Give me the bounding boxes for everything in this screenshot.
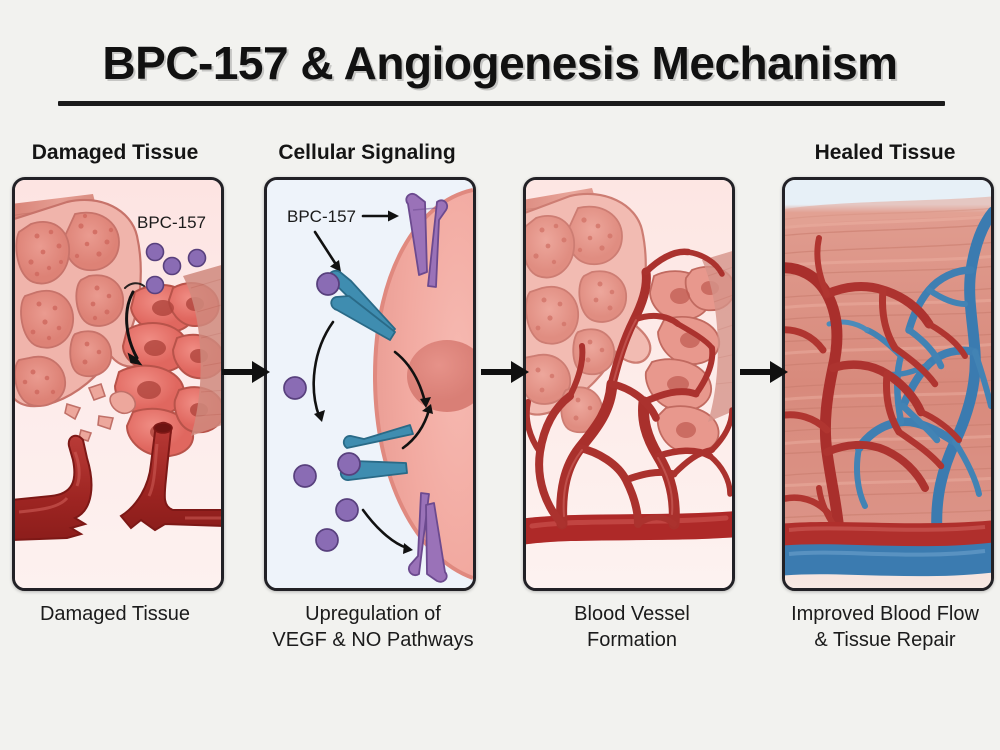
caption-blood-vessel-formation: Blood Vessel Formation <box>512 602 752 653</box>
panel-header-damaged-tissue: Damaged Tissue <box>12 141 218 165</box>
caption-cellular-signaling: Upregulation of VEGF & NO Pathways <box>253 602 493 653</box>
caption-damaged-tissue: Damaged Tissue <box>0 602 235 628</box>
title-underline <box>58 101 945 106</box>
flow-arrow-3-to-4 <box>740 358 788 386</box>
bound-ligand <box>338 453 360 475</box>
cellular-signaling-illustration: BPC-157 <box>267 180 473 588</box>
healed-tissue-illustration <box>785 180 991 588</box>
main-vein <box>785 542 991 576</box>
panel-header-healed-tissue: Healed Tissue <box>782 141 988 165</box>
damaged-tissue-illustration: BPC-157 <box>15 180 221 588</box>
caption-line-1: Blood Vessel <box>574 603 690 625</box>
panel-cellular-signaling[interactable]: BPC-157 <box>264 177 476 591</box>
panel-blood-vessel-formation[interactable] <box>523 177 735 591</box>
caption-line-1: Upregulation of <box>305 603 441 625</box>
caption-line-2: & Tissue Repair <box>814 629 955 651</box>
caption-line-2: Formation <box>587 629 677 651</box>
flow-arrow-1-to-2 <box>222 358 270 386</box>
bpc157-label: BPC-157 <box>137 213 206 232</box>
caption-line-1: Improved Blood Flow <box>791 603 979 625</box>
main-vessels <box>785 520 991 576</box>
caption-healed-tissue: Improved Blood Flow & Tissue Repair <box>765 602 1000 653</box>
panel-damaged-tissue[interactable]: BPC-157 <box>12 177 224 591</box>
blood-vessel-formation-illustration <box>526 180 732 588</box>
panel-header-cellular-signaling: Cellular Signaling <box>264 141 470 165</box>
bpc157-label: BPC-157 <box>287 207 356 226</box>
page-title: BPC-157 & Angiogenesis Mechanism <box>0 36 1000 90</box>
panel-healed-tissue[interactable] <box>782 177 994 591</box>
caption-line: Damaged Tissue <box>40 603 190 625</box>
bound-ligand <box>317 273 339 295</box>
flow-arrow-2-to-3 <box>481 358 529 386</box>
caption-line-2: VEGF & NO Pathways <box>272 629 473 651</box>
diagram-canvas: BPC-157 & Angiogenesis Mechanism Damaged… <box>0 0 1000 750</box>
